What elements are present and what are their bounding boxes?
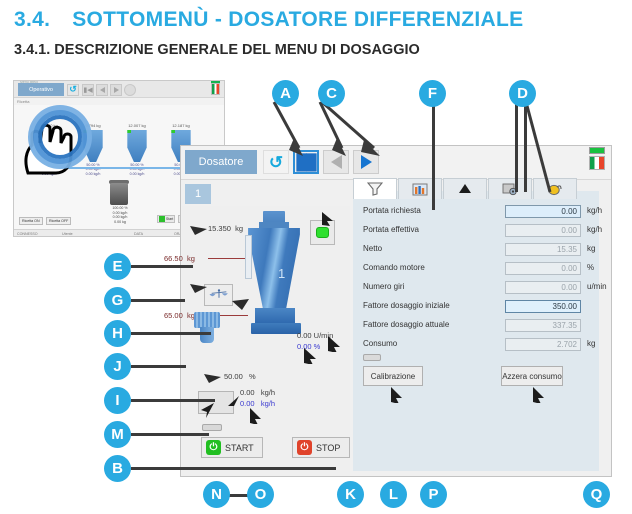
drum-total: 0.00 kg [102,220,138,225]
section-title: SOTTOMENÙ - DOSATORE DIFFERENZIALE [72,8,523,31]
callout-leader-h [131,332,211,335]
green-status-bar [589,147,605,154]
setpoint-value: 50.00 [224,372,243,381]
field-unit: % [587,263,594,272]
field-value: 337.35 [505,319,581,332]
field-unit: kg [587,244,595,253]
status-date: DATA [134,232,143,236]
tap-ripple [38,115,82,159]
level-max-value: 66.50 [164,254,183,263]
skip-first-icon[interactable]: ▮◀ [82,84,94,96]
callout-badge-b: B [104,455,131,482]
mini-hopper-rate2: 0.00 kg/h [124,172,150,176]
mini-hopper-values: 50.00 % 0.00 kg/h 0.00 kg/h [124,163,150,176]
panel-toggle-switch[interactable] [363,354,381,361]
pointer-arrow-icon [232,298,250,311]
field-value: 2.702 [505,338,581,351]
field-label: Fattore dosaggio iniziale [363,301,450,310]
field-value[interactable]: 0.00 [505,205,581,218]
field-label: Portata richiesta [363,206,421,215]
inset-breadcrumb: Ricetta [17,99,29,104]
cursor-arrow-icon [226,394,241,411]
cursor-arrow-icon [320,212,336,226]
field-label: Numero giri [363,282,404,291]
stop-circle-icon[interactable] [124,84,136,96]
funnel-icon [367,182,383,196]
cursor-arrow-icon [389,385,404,403]
callout-leader-i [131,399,215,402]
callout-leader-e [131,265,193,268]
subsection-title: 3.4.1. DESCRIZIONE GENERALE DEL MENU DI … [14,42,420,58]
collection-drum[interactable] [110,183,128,205]
callout-badge-j: J [104,353,131,380]
inset-start-button[interactable]: Start [157,215,175,223]
cylinder-shape [316,227,329,238]
callout-badge-g: G [104,287,131,314]
power-on-icon [159,216,165,222]
callout-badge-m: M [104,421,131,448]
inset-tab-operativo[interactable]: Operativo [18,83,64,96]
power-off-icon: ⏻ [297,440,312,455]
level-min-label: 65.00 kg [164,311,195,320]
motor-graphic [194,312,228,346]
hopper-body [247,228,301,310]
motor-shaft [200,327,214,343]
callout-badge-h: H [104,320,131,347]
callout-badge-d: D [509,80,536,107]
hopper-number-label: 1 [278,266,285,281]
next-triangle-icon[interactable] [110,84,122,96]
status-led [127,129,131,133]
mini-hopper-body [82,130,104,162]
section-number: 3.4. [14,8,50,31]
home-icon[interactable]: ↺ [67,84,79,96]
rate-requested-unit: kg/h [261,388,275,397]
mini-hopper-weight: 9.794 kg [80,123,106,128]
field-label: Consumo [363,339,397,348]
rate-actual-unit: kg/h [261,399,275,408]
inset-start-label: Start [166,217,173,221]
net-weight-value: 15.350 [208,224,231,233]
mini-hopper-values: 50.00 % 0.00 kg/h 0.00 kg/h [80,163,106,176]
hopper-frame [251,323,301,334]
field-value: 0.00 [505,281,581,294]
tab-funnel[interactable] [353,178,397,199]
field-unit: u/min [587,282,607,291]
status-connection: CONNESSO [17,232,38,236]
field-unit: kg/h [587,206,602,215]
motor-body [194,312,220,328]
tab-bar-chart[interactable] [398,178,442,199]
bar-chart-icon [412,182,428,196]
power-on-icon: ⏻ [206,440,221,455]
hopper-sight-glass [245,235,252,279]
field-unit: kg [587,339,595,348]
recipe-on-button[interactable]: Ricetta ON [19,217,43,225]
callout-leader-b [131,467,336,470]
tab-cone[interactable] [443,178,487,199]
callout-arrow-a [272,100,314,162]
callout-badge-n: N [203,481,230,508]
callout-badge-k: K [337,481,364,508]
cursor-arrow-icon [326,334,342,352]
recipe-off-button[interactable]: Ricetta OFF [46,217,71,225]
black-cone-icon [457,182,473,196]
page-title: 3.4.SOTTOMENÙ - DOSATORE DIFFERENZIALE [14,8,523,32]
pointer-arrow-icon [190,224,208,236]
pointer-arrow-icon [190,282,208,294]
mini-hopper-body [126,130,148,162]
setpoint-unit: % [249,372,256,381]
toolbar-title-dosatore: Dosatore [185,150,257,174]
level-max-line [208,258,246,259]
start-button[interactable]: ⏻ START [201,437,263,458]
drum-values: 100.00 % 0.00 kg/h 0.00 kg/h 0.00 kg [102,206,138,225]
rate-requested-readout: 0.00 kg/h [240,388,275,397]
field-label: Fattore dosaggio attuale [363,320,449,329]
azzera-consumo-button[interactable]: Azzera consumo [501,366,563,386]
setpoint-readout: 50.00 % [224,372,256,381]
italian-flag-icon[interactable] [211,83,220,95]
status-user: Utente [62,232,73,236]
callout-badge-i: I [104,387,131,414]
inset-toolbar: Menu attivo Operativo ↺ ▮◀ [14,81,224,98]
callout-leader-d1 [515,100,518,192]
callout-badge-c: C [318,80,345,107]
callout-badge-q: Q [583,481,610,508]
field-value: 0.00 [505,224,581,237]
field-unit: kg/h [587,225,602,234]
stop-label: STOP [316,443,340,453]
field-label: Comando motore [363,263,425,272]
callout-badge-a: A [272,80,299,107]
level-min-value: 65.00 [164,311,183,320]
field-value: 15.35 [505,243,581,256]
dosing-parameters-panel: Portata richiesta 0.00 kg/h Portata effe… [353,191,599,471]
pointer-arrow-icon [204,372,222,384]
net-weight-readout: 15.350 kg [208,224,243,233]
status-led [83,129,87,133]
callout-badge-o: O [247,481,274,508]
hopper-outlet [255,308,295,324]
balance-scale-icon[interactable] [204,284,233,306]
mini-hopper-rate2: 0.00 kg/h [80,172,106,176]
callout-badge-p: P [420,481,447,508]
hand-tap-cursor [22,115,82,177]
rate-requested-value: 0.00 [240,388,255,397]
panel-tab-bar [353,178,599,199]
mini-hopper-weight: 12.187 kg [168,123,194,128]
dosatore-number-badge: 1 [185,184,211,204]
field-label: Netto [363,244,382,253]
cursor-arrow-icon [531,385,546,403]
callout-badge-l: L [380,481,407,508]
prev-triangle-icon[interactable] [96,84,108,96]
callout-leader-g [131,299,185,302]
calibrazione-button[interactable]: Calibrazione [363,366,423,386]
field-value: 0.00 [505,262,581,275]
callout-leader-m [131,433,209,436]
cursor-arrow-icon [248,406,262,424]
mini-hopper-weight: 12.007 kg [124,123,150,128]
start-label: START [225,443,254,453]
cursor-arrow-icon [200,402,216,418]
callout-badge-e: E [104,253,131,280]
callout-leader-f [432,100,435,210]
cursor-arrow-icon [302,346,318,364]
hopper-collar [259,222,289,229]
callout-leader-j [131,365,186,368]
stop-button[interactable]: ⏻ STOP [292,437,350,458]
callout-arrow-c2 [320,100,392,162]
level-max-unit: kg [187,254,195,263]
callout-leader-d3 [524,100,560,200]
scale-glyph [208,288,230,303]
field-label: Portata effettiva [363,225,419,234]
field-value[interactable]: 350.00 [505,300,581,313]
status-led [171,129,175,133]
diagram-toggle-switch[interactable] [202,424,222,431]
callout-badge-f: F [419,80,446,107]
hopper-graphic: 1 [242,211,306,341]
hopper-diagram: 15.350 kg 66.50 kg 65.00 kg 1 [182,206,350,476]
level-max-label: 66.50 kg [164,254,195,263]
italian-flag-icon[interactable] [589,156,605,170]
